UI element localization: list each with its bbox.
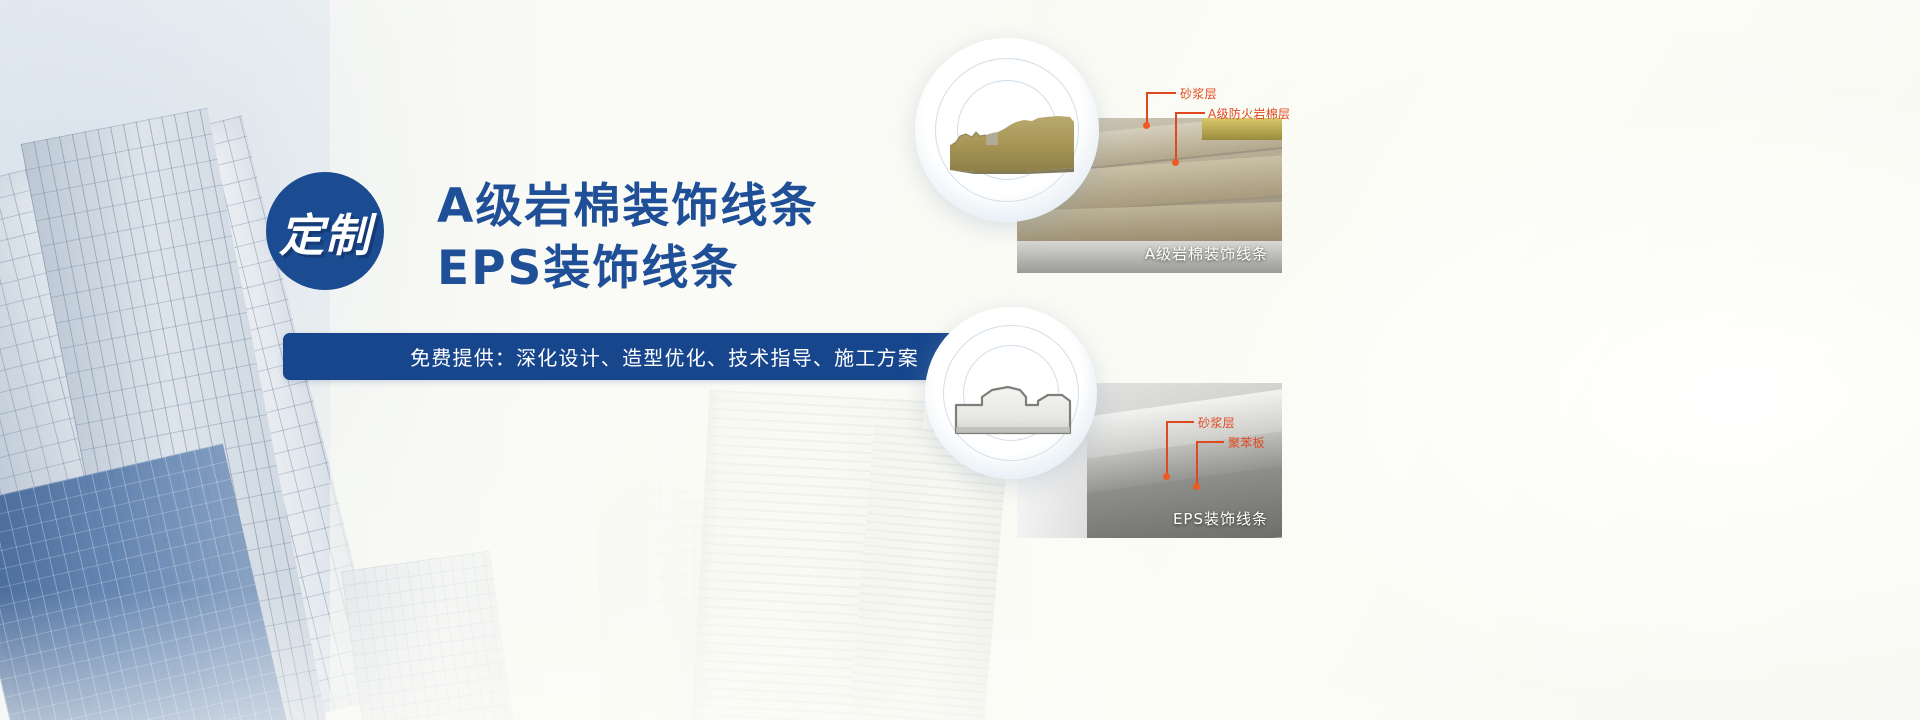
custom-badge-label: 定制: [279, 199, 371, 264]
callout-label-eps-1: 砂浆层: [1198, 414, 1235, 431]
product-caption-eps: EPS装饰线条: [1173, 508, 1268, 529]
headline-line-2: EPS装饰线条: [437, 238, 818, 300]
promo-banner: 定制 A级岩棉装饰线条 EPS装饰线条 免费提供：深化设计、造型优化、技术指导、…: [0, 0, 1920, 720]
photo-fade-bottom: [0, 590, 1100, 720]
headline-line-1: A级岩棉装饰线条: [437, 176, 818, 238]
callout-leader-line: [1166, 421, 1168, 477]
callout-dot: [1143, 122, 1150, 129]
callout-label-rockwool-1: 砂浆层: [1180, 85, 1217, 102]
callout-leader-line: [1146, 92, 1176, 94]
services-ribbon-label: 免费提供：深化设计、造型优化、技术指导、施工方案: [410, 342, 919, 371]
custom-badge: 定制: [266, 172, 384, 290]
eps-cross-section-illustration: [952, 375, 1077, 437]
callout-leader-line: [1175, 112, 1205, 114]
headline-block: A级岩棉装饰线条 EPS装饰线条: [437, 176, 818, 300]
rockwool-cross-section-illustration: [946, 112, 1078, 174]
callout-leader-line: [1175, 112, 1177, 162]
callout-label-eps-2: 聚苯板: [1228, 434, 1265, 451]
callout-dot: [1193, 483, 1200, 490]
callout-dot: [1172, 159, 1179, 166]
callout-leader-line: [1166, 421, 1194, 423]
callout-dot: [1163, 473, 1170, 480]
product-caption-rockwool: A级岩棉装饰线条: [1145, 243, 1268, 264]
callout-leader-line: [1196, 441, 1224, 443]
callout-leader-line: [1146, 92, 1148, 125]
background-wash-right: [1020, 0, 1920, 720]
callout-label-rockwool-2: A级防火岩棉层: [1208, 105, 1290, 122]
callout-leader-line: [1196, 441, 1198, 486]
